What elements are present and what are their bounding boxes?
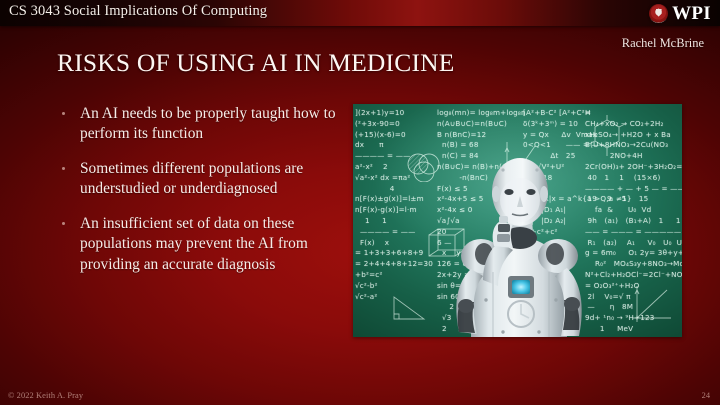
bullet-text: An AI needs to be properly taught how to… bbox=[80, 105, 336, 142]
list-item: Sometimes different populations are unde… bbox=[58, 159, 342, 200]
presenter-name: Rachel McBrine bbox=[622, 36, 704, 51]
list-item: An insufficient set of data on these pop… bbox=[58, 214, 342, 275]
robot-figure bbox=[353, 104, 682, 337]
bullet-dot-icon bbox=[62, 222, 65, 225]
slide-header-bar: CS 3043 Social Implications Of Computing… bbox=[0, 0, 720, 26]
presentation-slide: CS 3043 Social Implications Of Computing… bbox=[0, 0, 720, 405]
bullet-text: Sometimes different populations are unde… bbox=[80, 160, 303, 197]
slide-title: RISKS OF USING AI IN MEDICINE bbox=[57, 48, 455, 78]
bullet-dot-icon bbox=[62, 167, 65, 170]
page-number: 24 bbox=[702, 391, 710, 400]
bullet-list: An AI needs to be properly taught how to… bbox=[58, 104, 342, 275]
bullet-dot-icon bbox=[62, 112, 65, 115]
copyright-notice: © 2022 Keith A. Pray bbox=[8, 391, 83, 400]
list-item: An AI needs to be properly taught how to… bbox=[58, 104, 342, 145]
course-title: CS 3043 Social Implications Of Computing bbox=[9, 3, 267, 20]
wpi-seal-icon bbox=[649, 4, 668, 23]
bullet-text: An insufficient set of data on these pop… bbox=[80, 215, 308, 273]
slide-image-robot-chalkboard: ](2x+1)y=10 (²+3x-90=0 (+15)(x-6)=0 dx π… bbox=[353, 104, 682, 337]
wpi-wordmark: WPI bbox=[672, 4, 711, 23]
wpi-logo: WPI bbox=[649, 2, 711, 24]
